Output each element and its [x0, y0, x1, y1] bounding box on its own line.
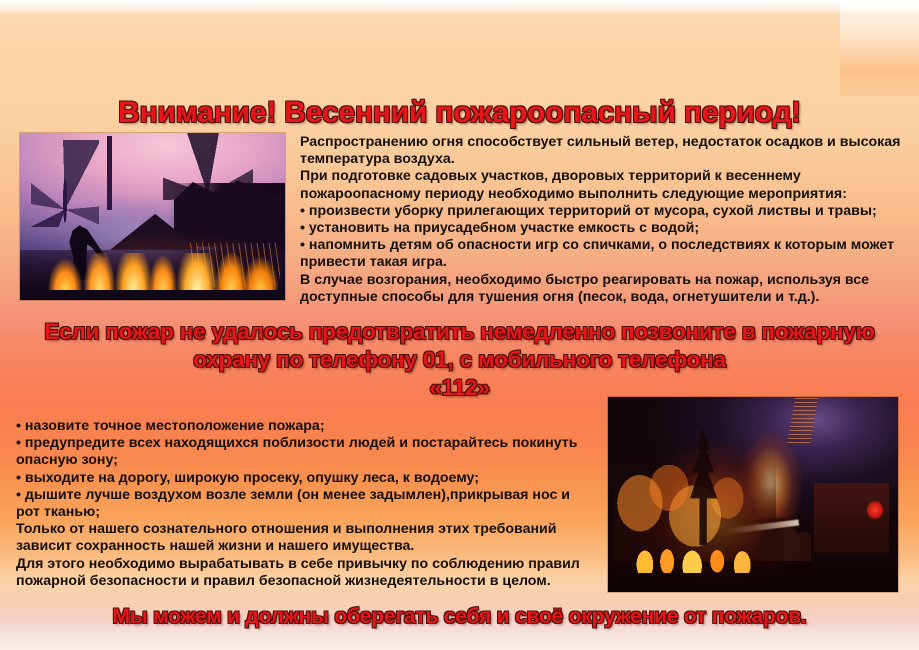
action-paragraph: Для этого необходимо вырабатывать в себе… — [16, 556, 596, 590]
action-bullet: • выходите на дорогу, широкую просеку, о… — [16, 470, 596, 487]
page-title: Внимание! Весенний пожароопасный период! — [0, 96, 919, 130]
intro-paragraph: В случае возгорания, необходимо быстро р… — [300, 272, 914, 306]
emergency-callout: Если пожар не удалось предотвратить неме… — [0, 318, 919, 402]
background-top-strip — [0, 0, 919, 13]
photo-night-structure-fire — [608, 397, 898, 592]
photo-emergency-light — [867, 501, 884, 519]
action-paragraph: Только от нашего сознательного отношения… — [16, 521, 596, 555]
footer-slogan: Мы можем и должны оберегать себя и своё … — [0, 604, 919, 630]
photo-tree-left — [31, 140, 100, 227]
photo-fire-truck — [814, 483, 889, 553]
photo-man-burning-dry-grass — [20, 133, 285, 300]
photo-utility-pole — [107, 136, 111, 209]
intro-bullet: • произвести уборку прилегающих территор… — [300, 203, 914, 220]
actions-text-block: • назовите точное местоположение пожара;… — [16, 418, 596, 590]
emergency-callout-line-2: охрану по телефону 01, с мобильного теле… — [12, 346, 907, 374]
photo-flames — [36, 253, 280, 290]
intro-paragraph: При подготовке садовых участков, дворовы… — [300, 168, 914, 202]
background-top-right-wash — [840, 0, 919, 96]
intro-bullet: • напомнить детям об опасности игр со сп… — [300, 237, 914, 271]
intro-text-block: Распространению огня способствует сильны… — [300, 134, 914, 306]
emergency-callout-line-1: Если пожар не удалось предотвратить неме… — [12, 318, 907, 346]
action-bullet: • дышите лучше воздухом возле земли (он … — [16, 487, 596, 521]
photo-embers — [631, 545, 770, 572]
fire-safety-poster: Внимание! Весенний пожароопасный период!… — [0, 0, 919, 650]
action-bullet: • предупредите всех находящихся поблизос… — [16, 435, 596, 469]
intro-bullet: • установить на приусадебном участке емк… — [300, 220, 914, 237]
intro-paragraph: Распространению огня способствует сильны… — [300, 134, 914, 168]
action-bullet: • назовите точное местоположение пожара; — [16, 418, 596, 435]
